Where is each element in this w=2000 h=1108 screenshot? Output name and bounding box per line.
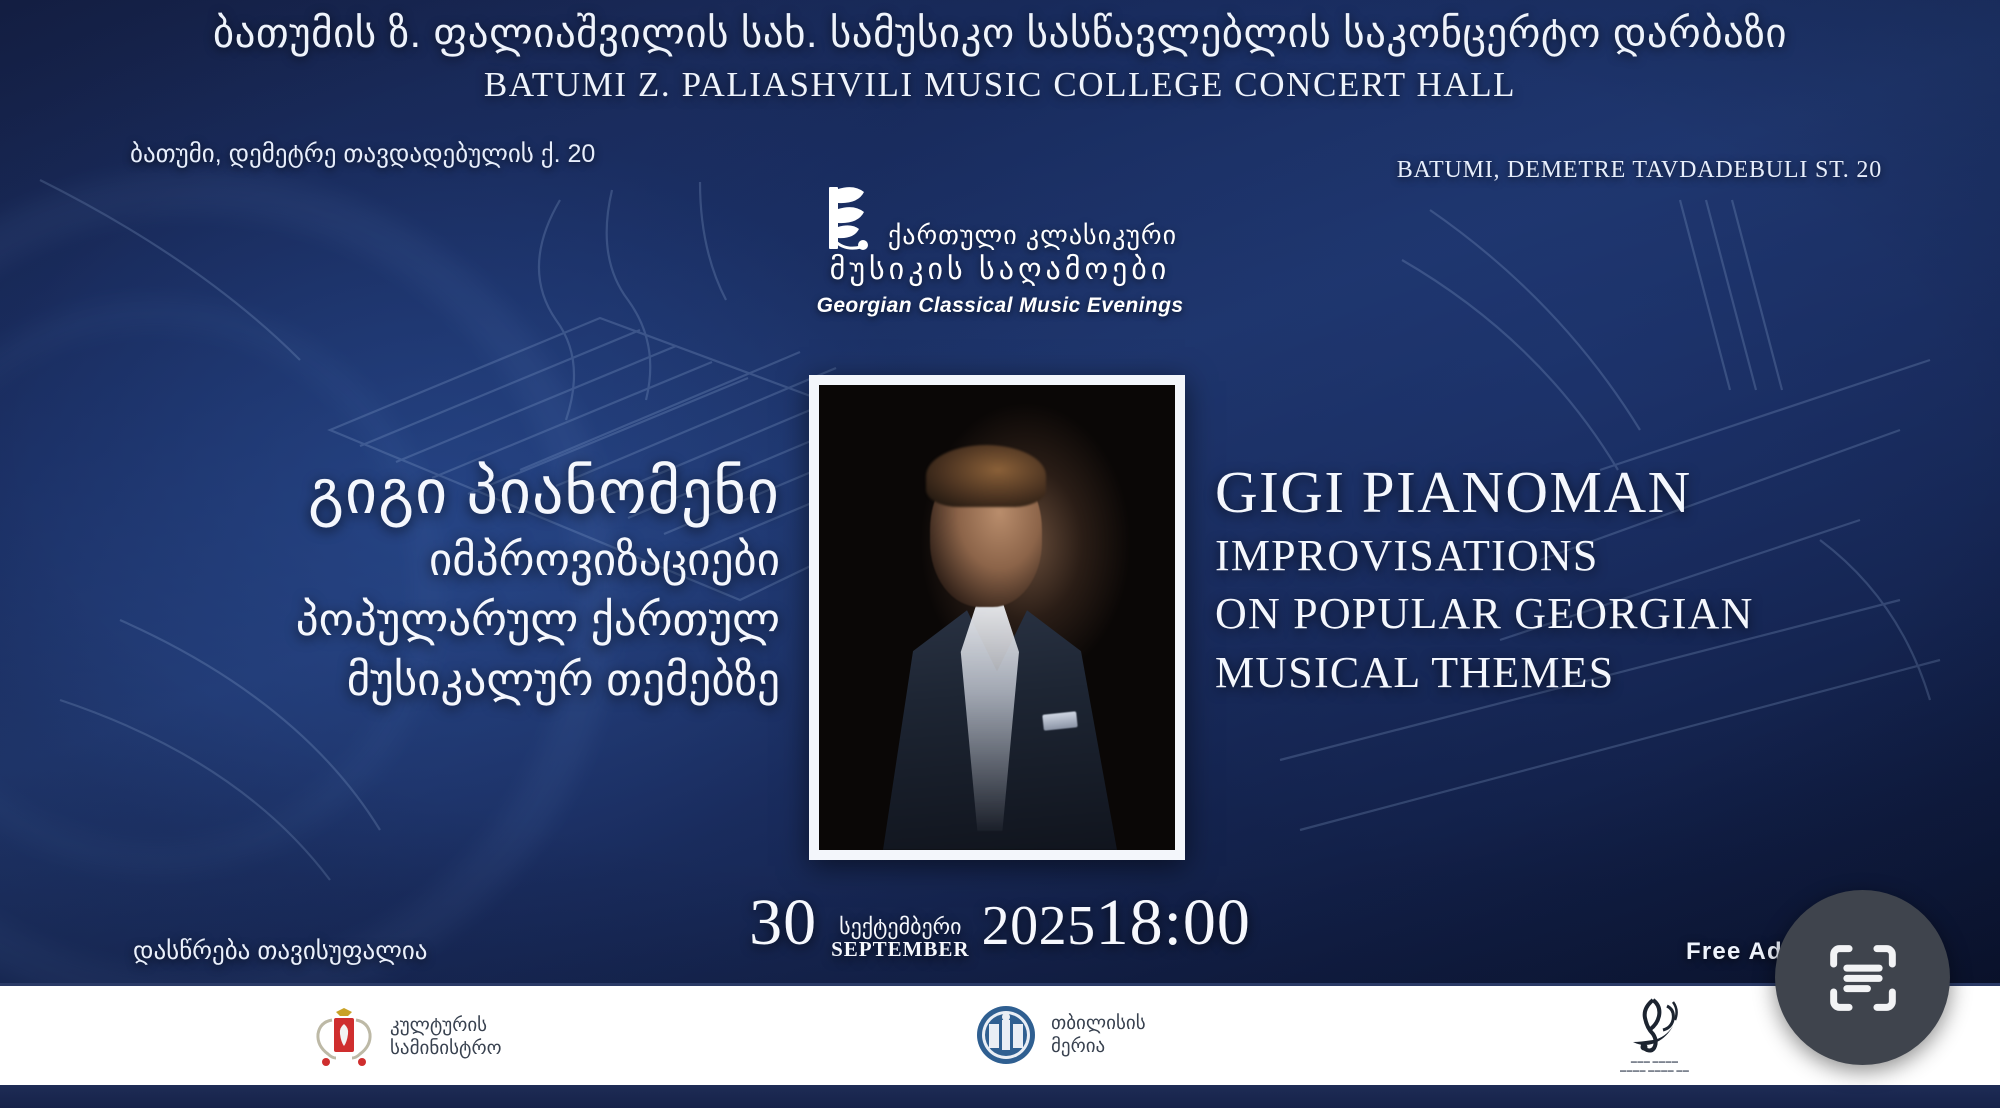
concert-poster: ბათუმის ზ. ფალიაშვილის სახ. სამუსიკო სას…: [0, 0, 2000, 983]
sponsor-cityhall-line1: თბილისის: [1051, 1012, 1146, 1035]
tbilisi-city-hall-icon: [975, 1004, 1037, 1066]
sponsor-music-school-caption: ▬▬▬ ▬▬▬▬ ▬▬▬▬ ▬▬▬▬ ▬▬: [1620, 1058, 1689, 1076]
flag-note-logo-icon: [823, 183, 879, 255]
sponsor-bar: კულტურის სამინისტრო თბილისის მერია: [0, 983, 2000, 1088]
artist-subtitle-en-1: IMPROVISATIONS: [1215, 529, 1955, 584]
venue-address-en: BATUMI, DEMETRE TAVDADEBULI ST. 20: [1397, 157, 1882, 184]
sponsor-ministry-of-culture: კულტურის სამინისტრო: [312, 1002, 502, 1072]
event-month: სექტემბერი SEPTEMBER: [831, 915, 970, 960]
admission-note-ka: დასწრება თავისუფალია: [133, 936, 427, 966]
text-scan-icon: [1819, 934, 1907, 1022]
event-time: 18:00: [1096, 885, 1251, 961]
venue-title-ka: ბათუმის ზ. ფალიაშვილის სახ. სამუსიკო სას…: [0, 8, 2000, 59]
sponsor-ministry-line1: კულტურის: [390, 1014, 502, 1037]
artist-subtitle-ka-2: პოპულარულ ქართულ: [60, 593, 780, 647]
sponsor-music-school: ▬▬▬ ▬▬▬▬ ▬▬▬▬ ▬▬▬▬ ▬▬: [1620, 996, 1689, 1076]
sponsor-music-school-line2: ▬▬▬▬ ▬▬▬▬ ▬▬: [1620, 1067, 1689, 1076]
sponsor-ministry-line2: სამინისტრო: [390, 1037, 502, 1060]
artist-subtitle-ka-1: იმპროვიზაციები: [60, 533, 780, 587]
artist-portrait: [819, 385, 1175, 850]
sponsor-tbilisi-city-hall: თბილისის მერია: [975, 1004, 1146, 1066]
sponsor-cityhall-label: თბილისის მერია: [1051, 1012, 1146, 1058]
treble-clef-school-icon: [1623, 996, 1687, 1056]
georgia-coat-of-arms-icon: [312, 1002, 376, 1072]
sponsor-music-school-col: ▬▬▬ ▬▬▬▬ ▬▬▬▬ ▬▬▬▬ ▬▬: [1620, 996, 1689, 1076]
text-scan-fab-button[interactable]: [1775, 890, 1950, 1065]
sponsor-cityhall-line2: მერია: [1051, 1035, 1146, 1058]
event-day: 30: [749, 885, 817, 961]
organiser-brand: ქართული კლასიკური მუსიკის საღამოები Geor…: [0, 183, 2000, 318]
venue-address-ka: ბათუმი, დემეტრე თავდადებულის ქ. 20: [130, 139, 595, 169]
artist-block-en: GIGI PIANOMAN IMPROVISATIONS ON POPULAR …: [1215, 460, 1955, 701]
sponsor-ministry-label: კულტურის სამინისტრო: [390, 1014, 502, 1060]
bottom-navigation-bar: [0, 1085, 2000, 1108]
event-year: 2025: [982, 894, 1096, 958]
artist-block-ka: გიგი პიანომენი იმპროვიზაციები პოპულარულ …: [60, 460, 780, 707]
poster-header: ბათუმის ზ. ფალიაშვილის სახ. სამუსიკო სას…: [0, 8, 2000, 105]
brand-line-en: Georgian Classical Music Evenings: [817, 294, 1184, 318]
event-month-ka: სექტემბერი: [839, 915, 961, 938]
artist-name-en: GIGI PIANOMAN: [1215, 460, 1955, 525]
artist-name-ka: გიგი პიანომენი: [60, 460, 780, 527]
artist-subtitle-en-3: MUSICAL THEMES: [1215, 646, 1955, 701]
brand-line2-ka: მუსიკის საღამოები: [830, 252, 1171, 287]
artist-subtitle-ka-3: მუსიკალურ თემებზე: [60, 653, 780, 707]
artist-portrait-frame: [809, 375, 1185, 860]
event-month-en: SEPTEMBER: [831, 938, 970, 960]
venue-title-en: BATUMI Z. PALIASHVILI MUSIC COLLEGE CONC…: [0, 65, 2000, 105]
sponsor-music-school-line1: ▬▬▬ ▬▬▬▬: [1620, 1058, 1689, 1067]
portrait-hair: [926, 445, 1046, 507]
brand-line1-ka: ქართული კლასიკური: [888, 220, 1177, 255]
screenshot-root: ბათუმის ზ. ფალიაშვილის სახ. სამუსიკო სას…: [0, 0, 2000, 1108]
artist-subtitle-en-2: ON POPULAR GEORGIAN: [1215, 587, 1955, 642]
